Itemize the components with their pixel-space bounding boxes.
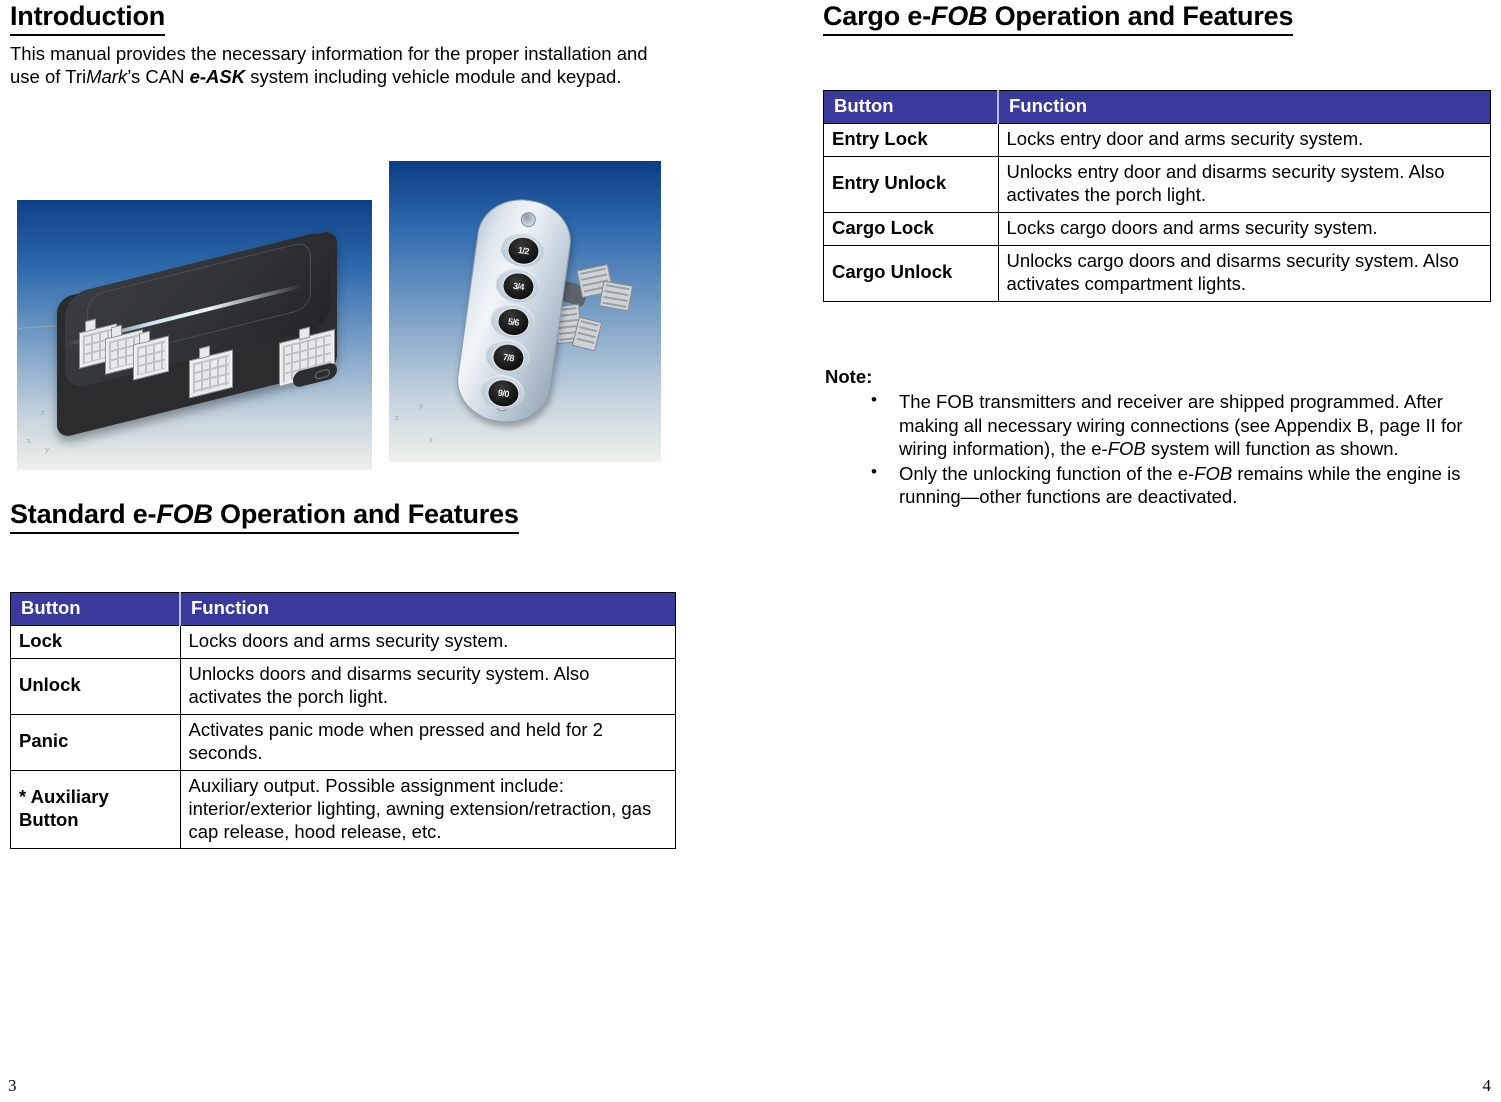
cargo-header-function: Function: [998, 91, 1491, 124]
cargo-row-3-button: Cargo Unlock: [824, 245, 999, 301]
cargo-table-body: Entry Lock Locks entry door and arms sec…: [824, 123, 1491, 301]
standard-fob-table: Button Function Lock Locks doors and arm…: [10, 592, 676, 849]
note-block: Note: •The FOB transmitters and receiver…: [825, 366, 1485, 510]
table-row: Cargo Lock Locks cargo doors and arms se…: [824, 212, 1491, 245]
intro-brand-italic: Mark: [86, 66, 127, 87]
note-item-1-italic: FOB: [1194, 463, 1232, 484]
section-title-cargo-efob: Cargo e-FOB Operation and Features: [823, 2, 1293, 36]
table-row: * Auxiliary Button Auxiliary output. Pos…: [11, 770, 676, 849]
cargo-table-head: Button Function: [824, 91, 1491, 124]
standard-header-function: Function: [180, 593, 676, 626]
cargo-row-2-button: Cargo Lock: [824, 212, 999, 245]
heading-cargo-before: Cargo: [823, 1, 907, 31]
standard-row-1-function: Unlocks doors and disarms security syste…: [180, 658, 676, 714]
axis-label-x: x: [27, 436, 31, 445]
axis-label-z: z: [41, 408, 45, 417]
note-bullet-list: •The FOB transmitters and receiver are s…: [825, 390, 1485, 508]
note-item-0-italic: FOB: [1108, 438, 1146, 459]
note-label: Note:: [825, 366, 1485, 388]
keypad-plug-2: [599, 281, 633, 312]
list-item: •Only the unlocking function of the e-FO…: [871, 462, 1485, 509]
keypad-button-1[interactable]: 1/2: [498, 230, 546, 270]
section-title-standard-efob: Standard e-FOB Operation and Features: [10, 500, 519, 534]
table-row: Panic Activates panic mode when pressed …: [11, 714, 676, 770]
cargo-row-1-function: Unlocks entry door and disarms security …: [998, 156, 1491, 212]
cargo-table-header-row: Button Function: [824, 91, 1491, 124]
figure-control-module: z x y: [17, 200, 372, 470]
table-row: Unlock Unlocks doors and disarms securit…: [11, 658, 676, 714]
standard-header-button: Button: [11, 593, 181, 626]
standard-row-0-button: Lock: [11, 625, 181, 658]
page-number-right: 4: [1483, 1076, 1492, 1096]
note-item-0-part2: system will function as shown.: [1146, 438, 1399, 459]
figure-keypad: 1/2 3/4 5/6 7/8 9/0 z y x: [389, 161, 661, 462]
keypad-faceplate: 1/2 3/4 5/6 7/8 9/0: [452, 194, 576, 429]
standard-row-2-function: Activates panic mode when pressed and he…: [180, 714, 676, 770]
keypad-button-5-label: 9/0: [486, 377, 522, 409]
standard-table-header-row: Button Function: [11, 593, 676, 626]
keypad-button-1-label: 1/2: [506, 235, 542, 267]
cargo-row-1-button: Entry Unlock: [824, 156, 999, 212]
page-right: Cargo e-FOB Operation and Features Butto…: [751, 0, 1501, 1102]
introduction-paragraph: This manual provides the necessary infor…: [10, 42, 658, 89]
heading-cargo-after: Operation and Features: [987, 1, 1293, 31]
bullet-icon: •: [871, 389, 877, 411]
keypad-screw-hole-top: [520, 211, 537, 228]
module-illustration: z x y: [17, 200, 372, 470]
table-row: Cargo Unlock Unlocks cargo doors and dis…: [824, 245, 1491, 301]
keypad-button-4-label: 7/8: [491, 342, 527, 374]
cargo-header-button: Button: [824, 91, 999, 124]
keypad-axis-label-y: y: [419, 401, 423, 410]
axis-label-y: y: [45, 445, 49, 454]
heading-standard-italic: FOB: [156, 499, 212, 529]
standard-table-head: Button Function: [11, 593, 676, 626]
note-item-1-part1: Only the unlocking function of the e-: [899, 463, 1194, 484]
keypad-axis-label-x: x: [429, 435, 433, 444]
cargo-row-0-function: Locks entry door and arms security syste…: [998, 123, 1491, 156]
table-row: Lock Locks doors and arms security syste…: [11, 625, 676, 658]
table-row: Entry Lock Locks entry door and arms sec…: [824, 123, 1491, 156]
table-row: Entry Unlock Unlocks entry door and disa…: [824, 156, 1491, 212]
standard-table-body: Lock Locks doors and arms security syste…: [11, 625, 676, 849]
page-title-introduction: Introduction: [10, 2, 165, 36]
standard-row-2-button: Panic: [11, 714, 181, 770]
standard-row-0-function: Locks doors and arms security system.: [180, 625, 676, 658]
standard-row-1-button: Unlock: [11, 658, 181, 714]
heading-cargo-italic: FOB: [931, 1, 987, 31]
heading-cargo-prefix: e-: [907, 1, 931, 31]
heading-standard-prefix: e-: [133, 499, 157, 529]
cargo-row-2-function: Locks cargo doors and arms security syst…: [998, 212, 1491, 245]
keypad-button-5[interactable]: 9/0: [478, 372, 526, 412]
heading-standard-after: Operation and Features: [213, 499, 519, 529]
intro-text-part3: system including vehicle module and keyp…: [245, 66, 621, 87]
page-left: Introduction This manual provides the ne…: [0, 0, 750, 1102]
intro-system-name: e-ASK: [190, 66, 246, 87]
bullet-icon: •: [871, 461, 877, 483]
cargo-row-3-function: Unlocks cargo doors and disarms security…: [998, 245, 1491, 301]
cargo-fob-table: Button Function Entry Lock Locks entry d…: [823, 90, 1491, 302]
keypad-button-4[interactable]: 7/8: [483, 337, 531, 377]
keypad-button-2-label: 3/4: [501, 270, 537, 302]
intro-text-part2: ’s CAN: [127, 66, 189, 87]
keypad-button-3[interactable]: 5/6: [488, 301, 536, 341]
heading-standard-before: Standard: [10, 499, 133, 529]
cargo-row-0-button: Entry Lock: [824, 123, 999, 156]
standard-row-3-function: Auxiliary output. Possible assignment in…: [180, 770, 676, 849]
standard-row-3-button: * Auxiliary Button: [11, 770, 181, 849]
list-item: •The FOB transmitters and receiver are s…: [871, 390, 1485, 460]
page-number-left: 3: [8, 1076, 17, 1096]
keypad-button-2[interactable]: 3/4: [493, 265, 541, 305]
keypad-button-3-label: 5/6: [496, 306, 532, 338]
keypad-axis-label-z: z: [395, 413, 399, 422]
